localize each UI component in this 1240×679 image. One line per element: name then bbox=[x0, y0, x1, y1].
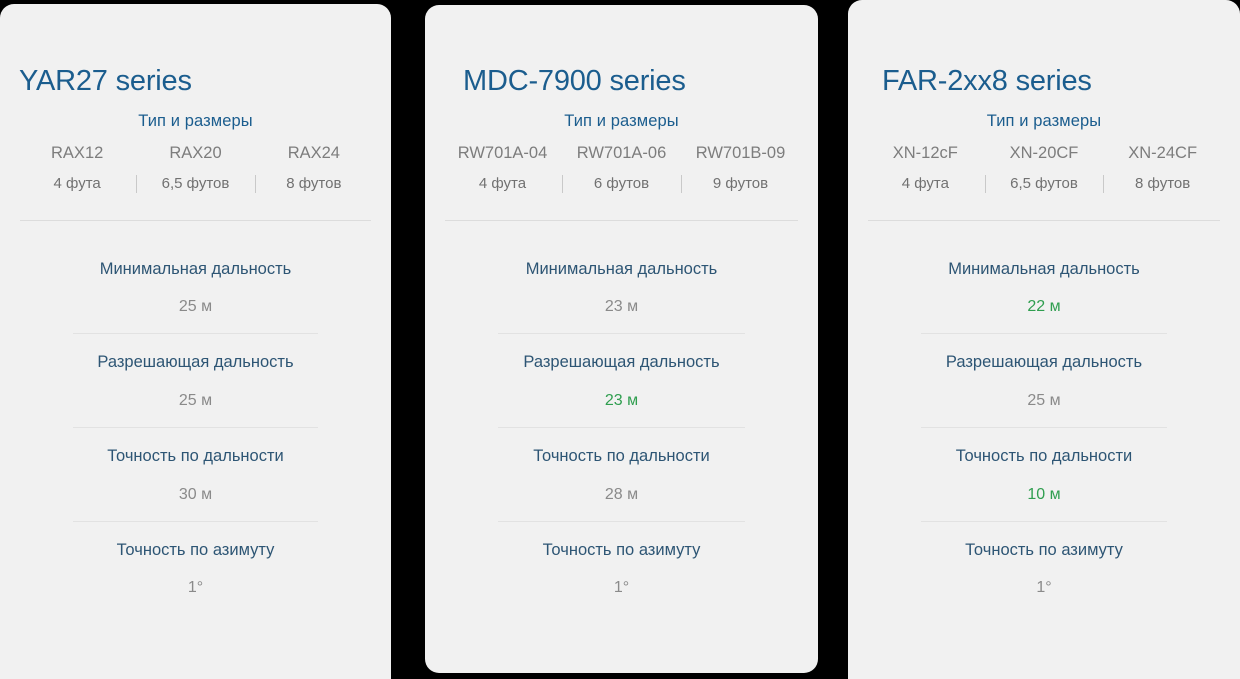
variant-name: RW701B-09 bbox=[681, 143, 800, 164]
variant-name: XN-12cF bbox=[866, 143, 985, 164]
variant-name: RW701A-04 bbox=[443, 143, 562, 164]
variant-size: 8 футов bbox=[1103, 174, 1222, 194]
variant-name: RAX12 bbox=[18, 143, 136, 164]
header-divider bbox=[868, 220, 1220, 221]
header-divider bbox=[445, 220, 798, 221]
spec-row: Точность по азимуту 1° bbox=[18, 540, 373, 598]
header-divider bbox=[20, 220, 371, 221]
variant-size-row: 4 фута 6 футов 9 футов bbox=[443, 174, 800, 194]
product-title: YAR27 series bbox=[19, 66, 373, 98]
variant-size: 8 футов bbox=[255, 174, 373, 194]
spec-label: Точность по дальности bbox=[866, 446, 1222, 467]
variant-name: RW701A-06 bbox=[562, 143, 681, 164]
spec-list: Минимальная дальность 23 м Разрешающая д… bbox=[443, 259, 800, 598]
spec-value: 22 м bbox=[866, 297, 1222, 316]
spec-divider bbox=[921, 521, 1167, 522]
variant-size-row: 4 фута 6,5 футов 8 футов bbox=[866, 174, 1222, 194]
spec-row: Минимальная дальность 23 м bbox=[443, 259, 800, 335]
type-section-title: Тип и размеры bbox=[443, 112, 800, 131]
product-title: MDC-7900 series bbox=[463, 66, 800, 98]
variant-size: 6 футов bbox=[562, 174, 681, 194]
spec-value: 23 м bbox=[443, 297, 800, 316]
spec-row: Точность по дальности 30 м bbox=[18, 446, 373, 522]
spec-value: 10 м bbox=[866, 485, 1222, 504]
spec-value: 30 м bbox=[18, 485, 373, 504]
spec-label: Разрешающая дальность bbox=[443, 352, 800, 373]
variant-name-row: RW701A-04 RW701A-06 RW701B-09 bbox=[443, 143, 800, 164]
product-card-1[interactable]: YAR27 series Тип и размеры RAX12 RAX20 R… bbox=[0, 4, 391, 679]
spec-value: 25 м bbox=[866, 391, 1222, 410]
spec-value: 28 м bbox=[443, 485, 800, 504]
spec-row: Разрешающая дальность 25 м bbox=[18, 352, 373, 428]
variant-size: 4 фута bbox=[866, 174, 985, 194]
product-card-2[interactable]: MDC-7900 series Тип и размеры RW701A-04 … bbox=[425, 5, 818, 673]
spec-value: 1° bbox=[18, 578, 373, 597]
spec-label: Точность по дальности bbox=[443, 446, 800, 467]
spec-label: Разрешающая дальность bbox=[866, 352, 1222, 373]
spec-row: Разрешающая дальность 25 м bbox=[866, 352, 1222, 428]
spec-divider bbox=[73, 333, 318, 334]
variant-size: 6,5 футов bbox=[136, 174, 254, 194]
spec-divider bbox=[498, 521, 745, 522]
variant-name: RAX20 bbox=[136, 143, 254, 164]
spec-label: Разрешающая дальность bbox=[18, 352, 373, 373]
spec-label: Минимальная дальность bbox=[443, 259, 800, 280]
spec-divider bbox=[921, 427, 1167, 428]
spec-row: Разрешающая дальность 23 м bbox=[443, 352, 800, 428]
type-section-title: Тип и размеры bbox=[18, 112, 373, 131]
spec-list: Минимальная дальность 25 м Разрешающая д… bbox=[18, 259, 373, 598]
spec-value: 23 м bbox=[443, 391, 800, 410]
spec-divider bbox=[73, 521, 318, 522]
spec-label: Точность по дальности bbox=[18, 446, 373, 467]
variant-name: RAX24 bbox=[255, 143, 373, 164]
spec-label: Минимальная дальность bbox=[18, 259, 373, 280]
variant-name: XN-20CF bbox=[985, 143, 1104, 164]
spec-label: Точность по азимуту bbox=[443, 540, 800, 561]
spec-list: Минимальная дальность 22 м Разрешающая д… bbox=[866, 259, 1222, 598]
spec-label: Точность по азимуту bbox=[866, 540, 1222, 561]
comparison-board: YAR27 series Тип и размеры RAX12 RAX20 R… bbox=[0, 0, 1240, 679]
variant-name: XN-24CF bbox=[1103, 143, 1222, 164]
spec-row: Точность по дальности 10 м bbox=[866, 446, 1222, 522]
spec-row: Точность по азимуту 1° bbox=[866, 540, 1222, 598]
variant-name-row: XN-12cF XN-20CF XN-24CF bbox=[866, 143, 1222, 164]
spec-divider bbox=[498, 333, 745, 334]
spec-row: Точность по азимуту 1° bbox=[443, 540, 800, 598]
variant-size: 9 футов bbox=[681, 174, 800, 194]
spec-value: 1° bbox=[443, 578, 800, 597]
spec-label: Минимальная дальность bbox=[866, 259, 1222, 280]
variant-size: 4 фута bbox=[443, 174, 562, 194]
spec-row: Минимальная дальность 22 м bbox=[866, 259, 1222, 335]
variant-name-row: RAX12 RAX20 RAX24 bbox=[18, 143, 373, 164]
spec-value: 25 м bbox=[18, 297, 373, 316]
product-card-3[interactable]: FAR-2xx8 series Тип и размеры XN-12cF XN… bbox=[848, 0, 1240, 679]
spec-row: Точность по дальности 28 м bbox=[443, 446, 800, 522]
spec-row: Минимальная дальность 25 м bbox=[18, 259, 373, 335]
spec-value: 25 м bbox=[18, 391, 373, 410]
spec-value: 1° bbox=[866, 578, 1222, 597]
spec-divider bbox=[921, 333, 1167, 334]
spec-divider bbox=[73, 427, 318, 428]
variant-size-row: 4 фута 6,5 футов 8 футов bbox=[18, 174, 373, 194]
type-section-title: Тип и размеры bbox=[866, 112, 1222, 131]
spec-label: Точность по азимуту bbox=[18, 540, 373, 561]
variant-size: 6,5 футов bbox=[985, 174, 1104, 194]
variant-size: 4 фута bbox=[18, 174, 136, 194]
spec-divider bbox=[498, 427, 745, 428]
product-title: FAR-2xx8 series bbox=[882, 66, 1222, 98]
